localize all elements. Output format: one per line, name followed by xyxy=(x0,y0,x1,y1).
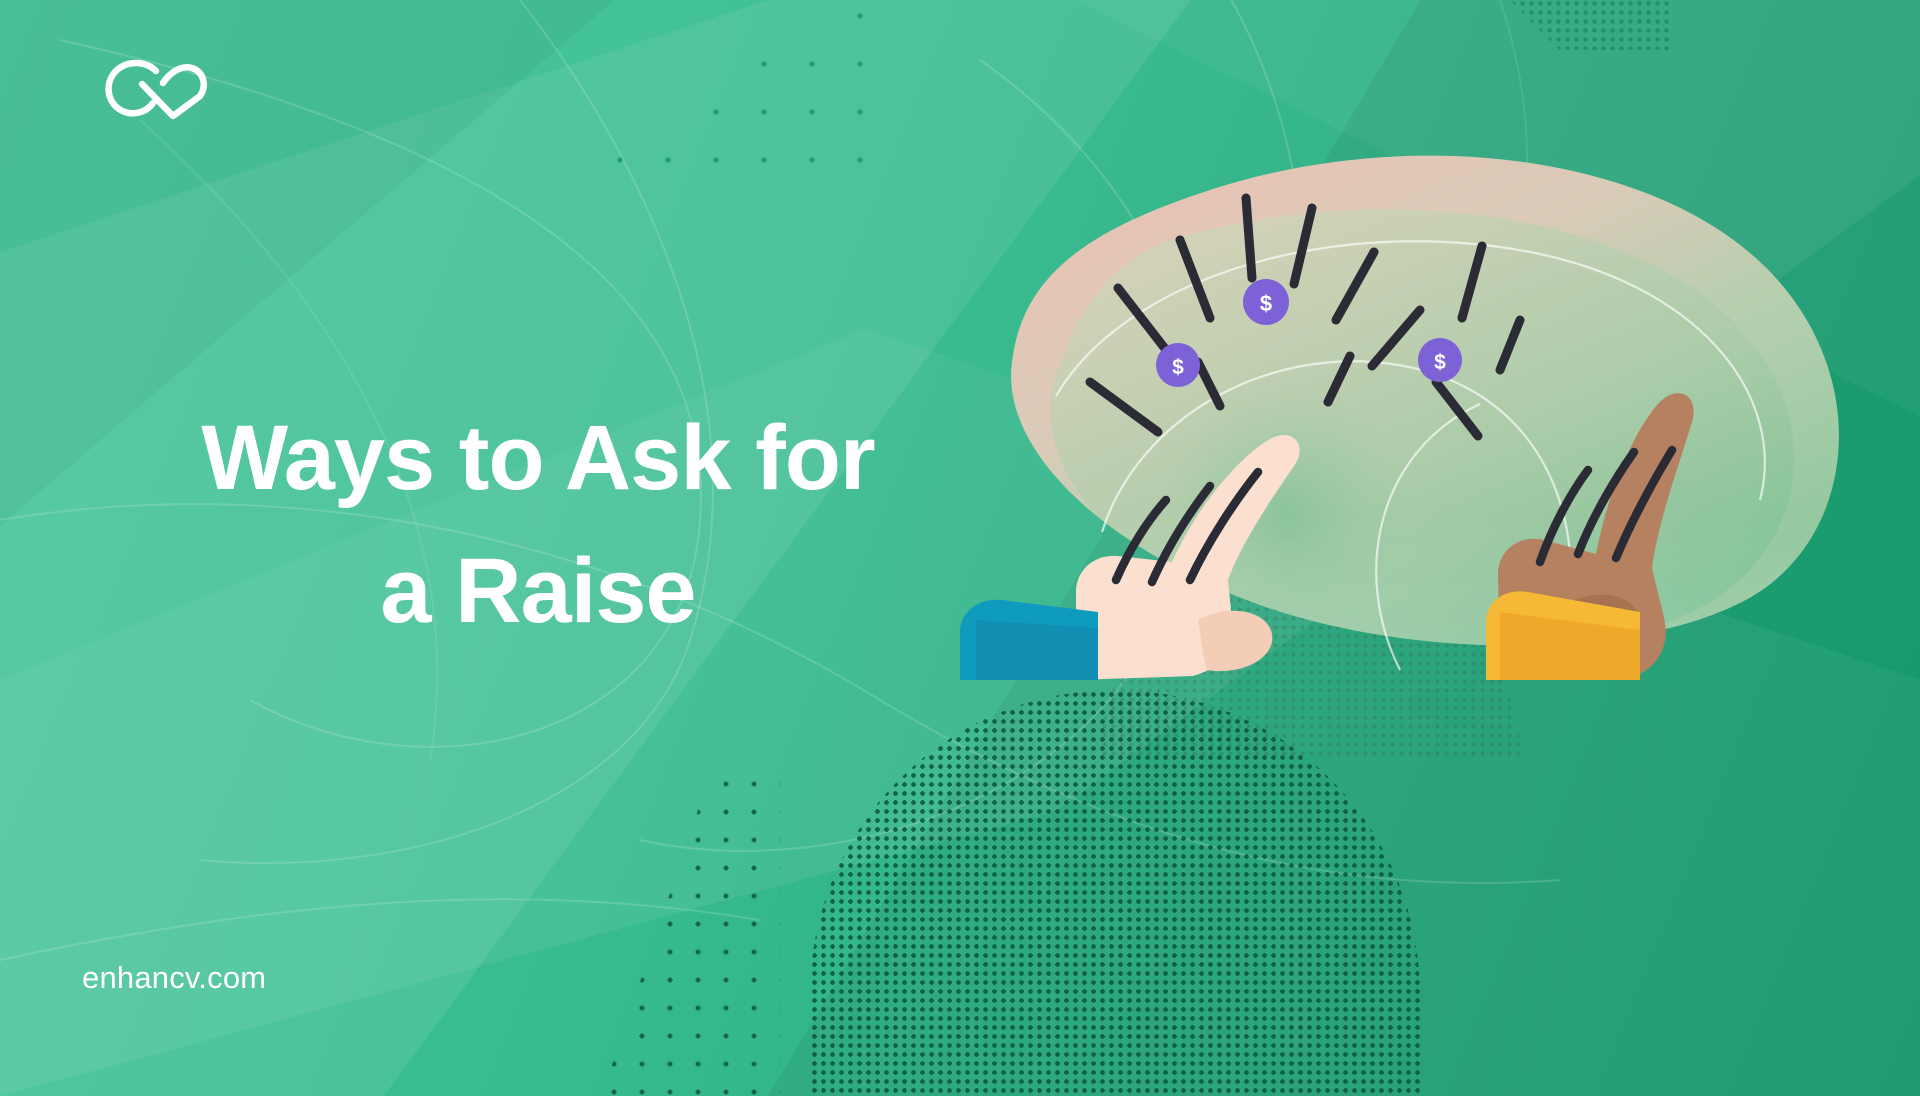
svg-text:$: $ xyxy=(1172,356,1184,379)
page-title: Ways to Ask for a Raise xyxy=(88,392,988,659)
page-title-line-1: Ways to Ask for xyxy=(88,392,988,525)
enhancv-infinity-logo[interactable] xyxy=(100,58,210,120)
hero-illustration: $ $ $ xyxy=(880,150,1920,680)
slide-canvas: $ $ $ Ways to Ask for a Raise enhancv.co… xyxy=(0,0,1920,1096)
page-title-line-2: a Raise xyxy=(88,525,988,658)
svg-text:$: $ xyxy=(1434,351,1446,374)
illustration-blob xyxy=(880,156,1920,680)
coin-icon-top: $ xyxy=(1243,279,1289,325)
coin-icon-left: $ xyxy=(1156,343,1200,387)
svg-text:$: $ xyxy=(1260,291,1272,316)
coin-icon-right: $ xyxy=(1418,338,1462,382)
website-url[interactable]: enhancv.com xyxy=(82,960,266,996)
